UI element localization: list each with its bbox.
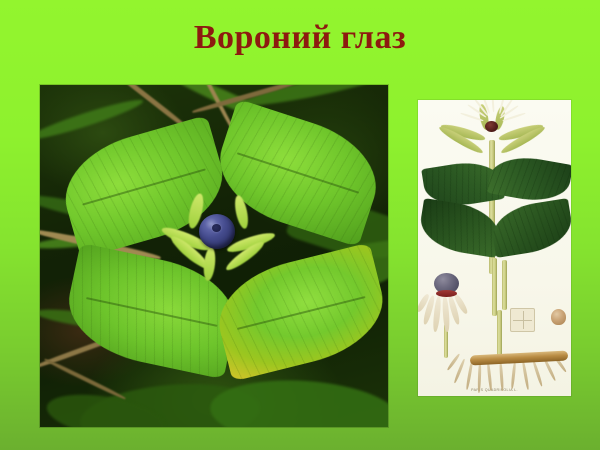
plate-stem-segment-a [492, 258, 497, 316]
paris-quadrifolia-photo [40, 85, 388, 427]
plate-ovary [485, 121, 498, 132]
plate-caption: PARIS QUADRIFOLIA L. [418, 388, 571, 393]
plate-rhizome [470, 350, 568, 365]
plate-stem-to-rhizome [497, 310, 502, 358]
plate-seed-detail [551, 309, 566, 325]
plate-leaf-lower-right [489, 198, 571, 258]
botanical-plate: PARIS QUADRIFOLIA L. [418, 100, 571, 396]
page-title: Вороний глаз [0, 18, 600, 58]
plate-berry-calyx-ring [436, 290, 457, 297]
photo-berry [199, 214, 235, 249]
slide-canvas: Вороний глаз [0, 0, 600, 450]
plate-cross-section-detail [510, 308, 535, 332]
plate-stem-segment-b [502, 260, 507, 310]
